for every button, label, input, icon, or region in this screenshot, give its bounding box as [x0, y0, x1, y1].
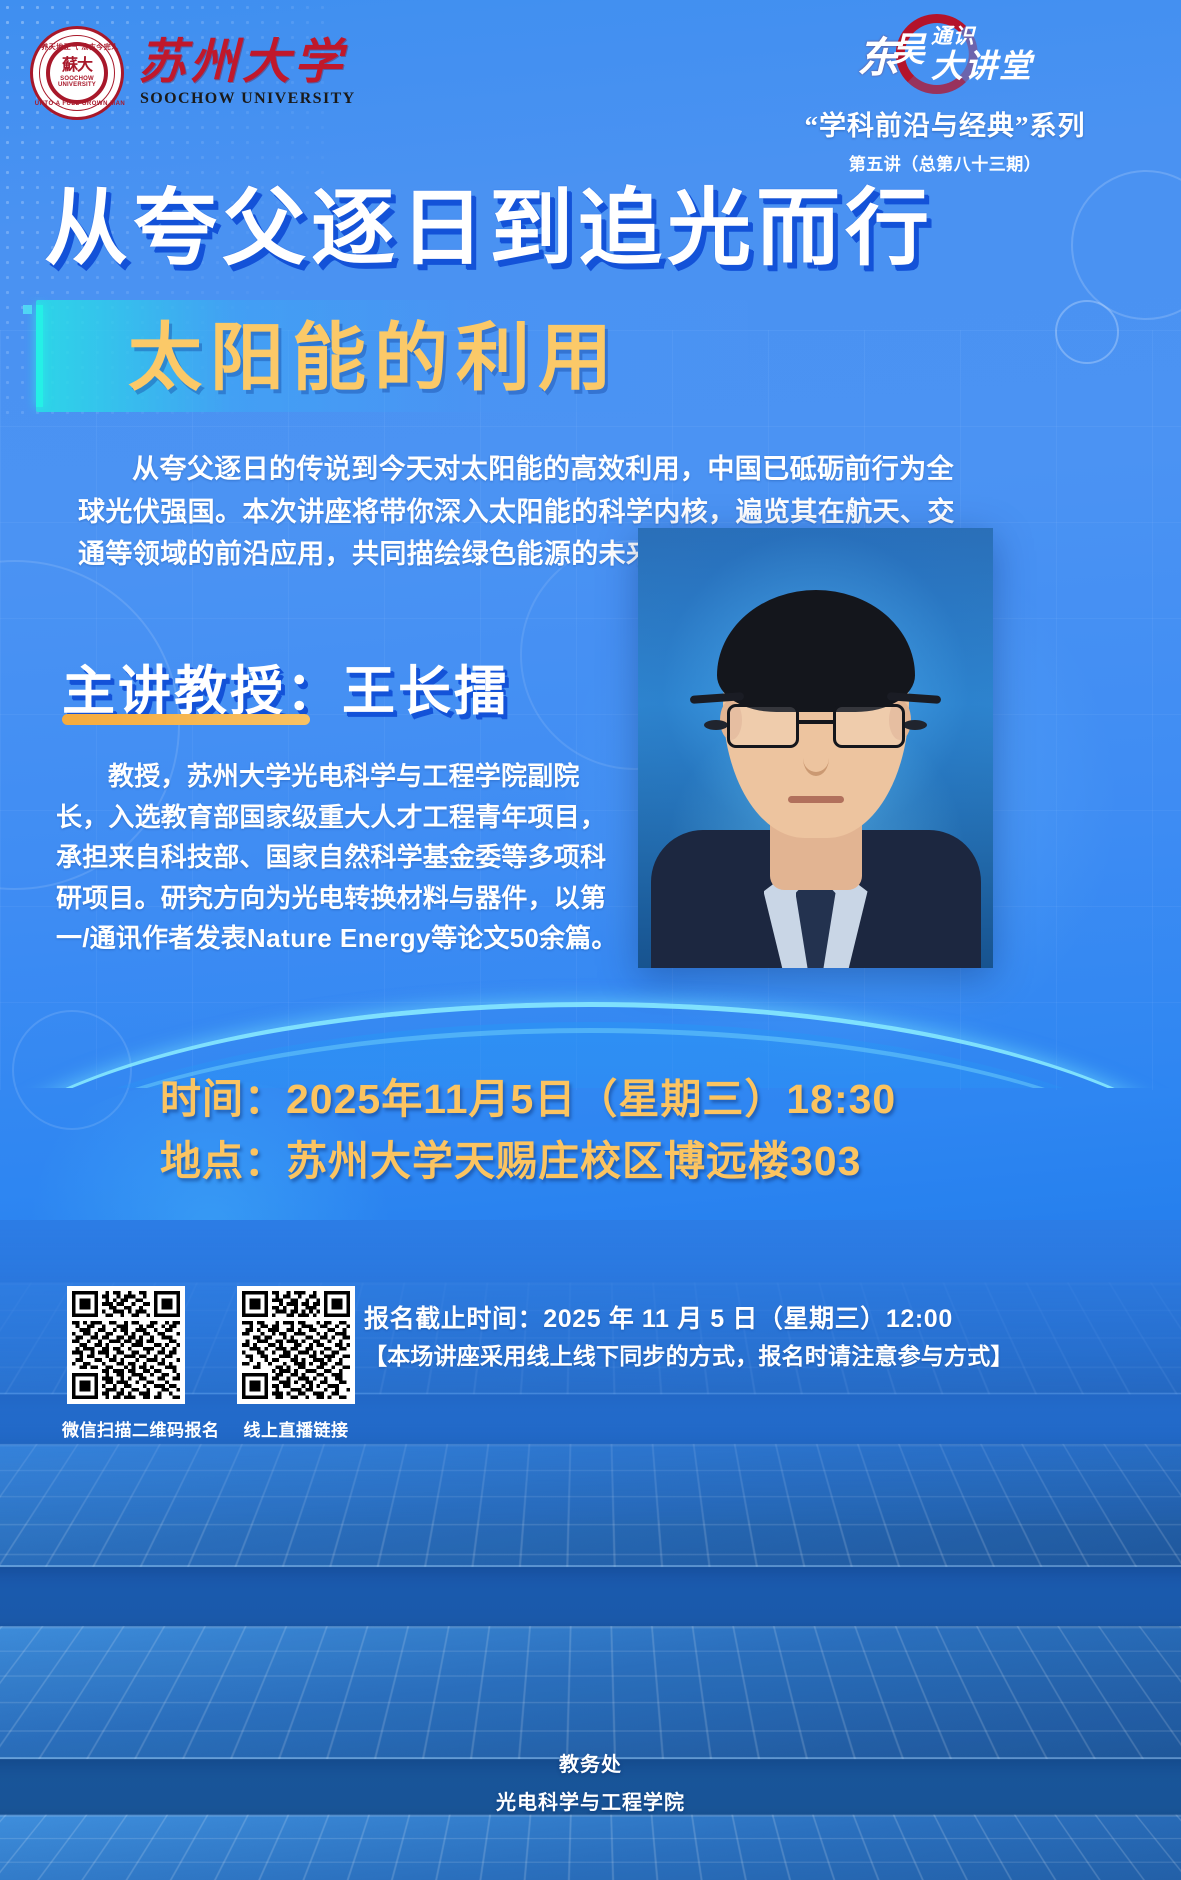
subtitle-dot-decoration — [23, 305, 32, 314]
qr-code-wechat[interactable] — [67, 1286, 185, 1404]
series-name: “学科前沿与经典”系列 — [735, 104, 1155, 143]
qr-item-livestream[interactable]: 线上直播链接 — [232, 1286, 360, 1441]
university-seal-icon: 养天地正气 法古今完人 蘇大 SOOCHOW UNIVERSITY UNTO A… — [30, 26, 124, 120]
issue-number: 第五讲（总第八十三期） — [735, 150, 1155, 175]
subtitle-accent-bar — [36, 305, 43, 407]
speaker-bio: 教授，苏州大学光电科学与工程学院副院长，入选教育部国家级重大人才工程青年项目，承… — [56, 756, 626, 959]
portrait-mouth — [788, 796, 844, 803]
portrait-eye-right — [903, 720, 927, 730]
registration-note: 【本场讲座采用线上线下同步的方式，报名时请注意参与方式】 — [364, 1339, 1164, 1375]
organizer-footer: 教务处 光电科学与工程学院 — [0, 1746, 1181, 1822]
qr-item-wechat[interactable]: 微信扫描二维码报名 — [62, 1286, 190, 1441]
brand-char-wu: 吴 — [891, 22, 925, 71]
solar-panel-row — [0, 1815, 1181, 1880]
page-subtitle: 太阳能的利用 — [128, 308, 620, 408]
seal-center-en: SOOCHOW UNIVERSITY — [48, 76, 106, 88]
brand-text-dajiangtang: 大讲堂 — [931, 50, 1033, 82]
speaker-bio-part2: 等论文50余篇。 — [431, 923, 618, 953]
brand-mark-icon: 东 吴 通识 大讲堂 — [735, 8, 1155, 100]
glasses-lens-left — [727, 704, 799, 748]
portrait-eye-left — [704, 720, 728, 730]
university-name-block: 苏州大学 SOOCHOW UNIVERSITY — [138, 38, 356, 108]
qr-code-livestream-icon — [242, 1291, 350, 1399]
organizer-line-1: 教务处 — [0, 1746, 1181, 1784]
lecture-series-brand: 东 吴 通识 大讲堂 “学科前沿与经典”系列 第五讲（总第八十三期） — [735, 8, 1155, 175]
university-name-cn: 苏州大学 — [138, 38, 356, 88]
circle-ring-decoration — [1055, 300, 1119, 364]
schedule-location: 地点：苏州大学天赐庄校区博远楼303 — [0, 1130, 1181, 1192]
speaker-name-underline — [62, 714, 310, 725]
qr-caption-wechat: 微信扫描二维码报名 — [62, 1416, 190, 1441]
speaker-portrait — [638, 528, 993, 968]
seal-center: 蘇大 SOOCHOW UNIVERSITY — [48, 44, 106, 102]
qr-code-livestream[interactable] — [237, 1286, 355, 1404]
glasses-bridge — [799, 720, 833, 724]
brand-text-tongshi: 通识 — [931, 26, 975, 47]
solar-panel-row — [0, 1626, 1181, 1759]
university-logo: 养天地正气 法古今完人 蘇大 SOOCHOW UNIVERSITY UNTO A… — [30, 26, 356, 120]
organizer-line-2: 光电科学与工程学院 — [0, 1784, 1181, 1822]
poster-header: 养天地正气 法古今完人 蘇大 SOOCHOW UNIVERSITY UNTO A… — [0, 0, 1181, 175]
lecture-poster: 养天地正气 法古今完人 蘇大 SOOCHOW UNIVERSITY UNTO A… — [0, 0, 1181, 1880]
circle-ring-decoration — [1071, 170, 1181, 320]
qr-caption-livestream: 线上直播链接 — [232, 1416, 360, 1441]
portrait-nose — [803, 740, 829, 776]
schedule-block: 时间：2025年11月5日（星期三）18:30 地点：苏州大学天赐庄校区博远楼3… — [0, 1068, 1181, 1193]
qr-code-wechat-icon — [72, 1291, 180, 1399]
qr-code-group: 微信扫描二维码报名 — [62, 1286, 360, 1441]
glasses-lens-right — [833, 704, 905, 748]
brand-right-text: 通识 大讲堂 — [931, 26, 1033, 82]
brand-mark-text: 东 吴 通识 大讲堂 — [857, 24, 1033, 85]
schedule-time: 时间：2025年11月5日（星期三）18:30 — [0, 1068, 1181, 1130]
university-name-en: SOOCHOW UNIVERSITY — [140, 90, 356, 108]
registration-text-block: 报名截止时间：2025 年 11 月 5 日（星期三）12:00 【本场讲座采用… — [364, 1300, 1164, 1374]
page-title: 从夸父逐日到追光而行 — [44, 186, 934, 270]
registration-deadline: 报名截止时间：2025 年 11 月 5 日（星期三）12:00 — [364, 1300, 1164, 1339]
seal-arc-bottom-text: UNTO A FULL GROWN MAN — [33, 101, 127, 107]
seal-center-cn: 蘇大 — [62, 58, 92, 74]
speaker-bio-journal: Nature Energy — [247, 923, 431, 953]
registration-block: 微信扫描二维码报名 — [0, 1286, 1181, 1466]
